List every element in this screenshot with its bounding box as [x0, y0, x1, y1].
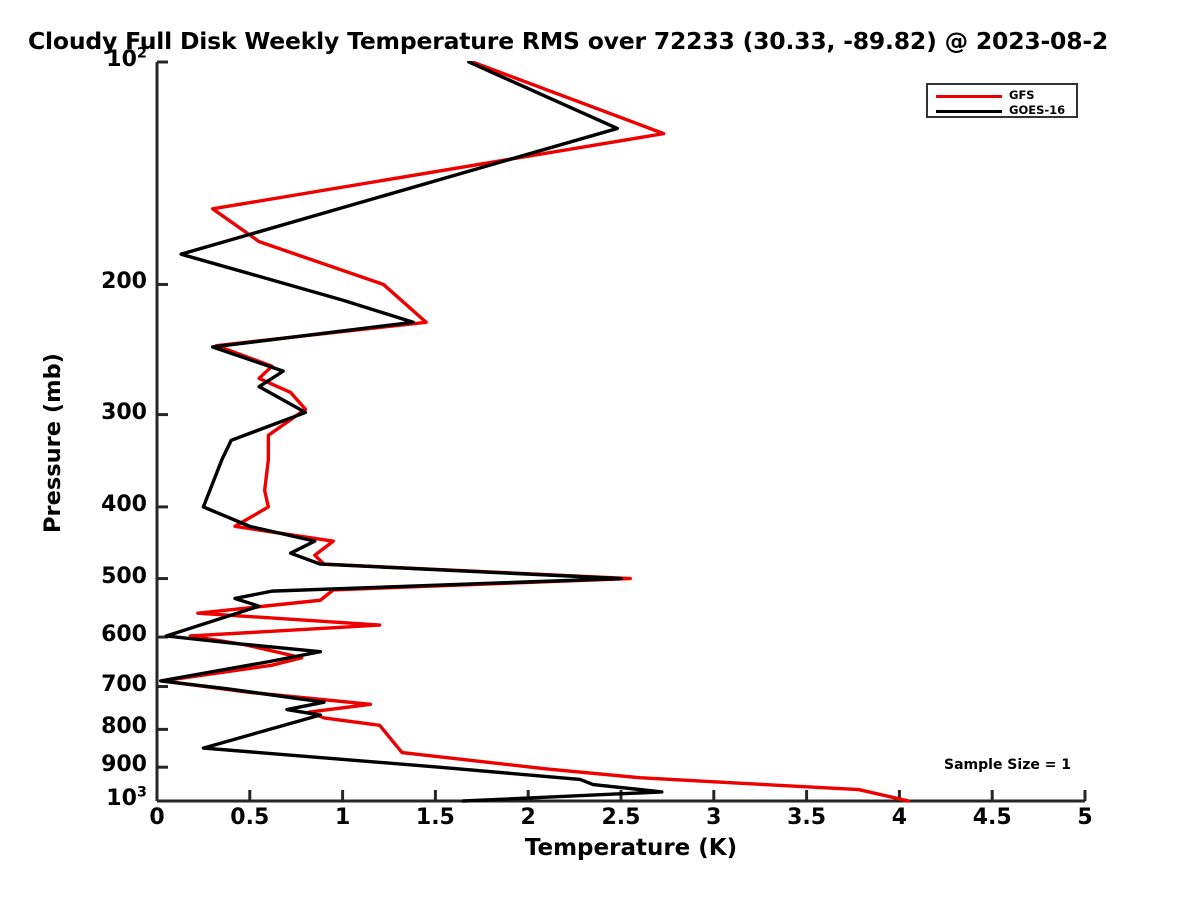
- legend-swatch-gfs: [936, 95, 1002, 98]
- y-tick-label: 300: [0, 400, 147, 425]
- y-tick-label: 800: [0, 714, 147, 739]
- y-tick-label: 700: [0, 672, 147, 697]
- legend-label-goes16: GOES-16: [1009, 105, 1065, 117]
- legend-entry-gfs: GFS: [928, 89, 1076, 103]
- legend-label-gfs: GFS: [1009, 90, 1035, 102]
- y-tick-label: 400: [0, 492, 147, 517]
- legend-entry-goes16: GOES-16: [928, 104, 1076, 118]
- sample-size-annotation: Sample Size = 1: [944, 757, 1071, 773]
- y-tick-label: 900: [0, 752, 147, 777]
- series-line-goes-16: [161, 62, 662, 801]
- y-tick-label: 200: [0, 269, 147, 294]
- y-tick-label: 500: [0, 564, 147, 589]
- y-tick-label: 600: [0, 622, 147, 647]
- x-tick-label: 5: [1025, 805, 1145, 830]
- x-axis-label: Temperature (K): [0, 835, 1200, 861]
- y-tick-label: 102: [0, 47, 147, 72]
- plot-canvas: Cloudy Full Disk Weekly Temperature RMS …: [0, 0, 1200, 900]
- legend: GFS GOES-16: [926, 83, 1078, 118]
- legend-swatch-goes16: [936, 110, 1002, 113]
- series-line-gfs: [163, 62, 909, 801]
